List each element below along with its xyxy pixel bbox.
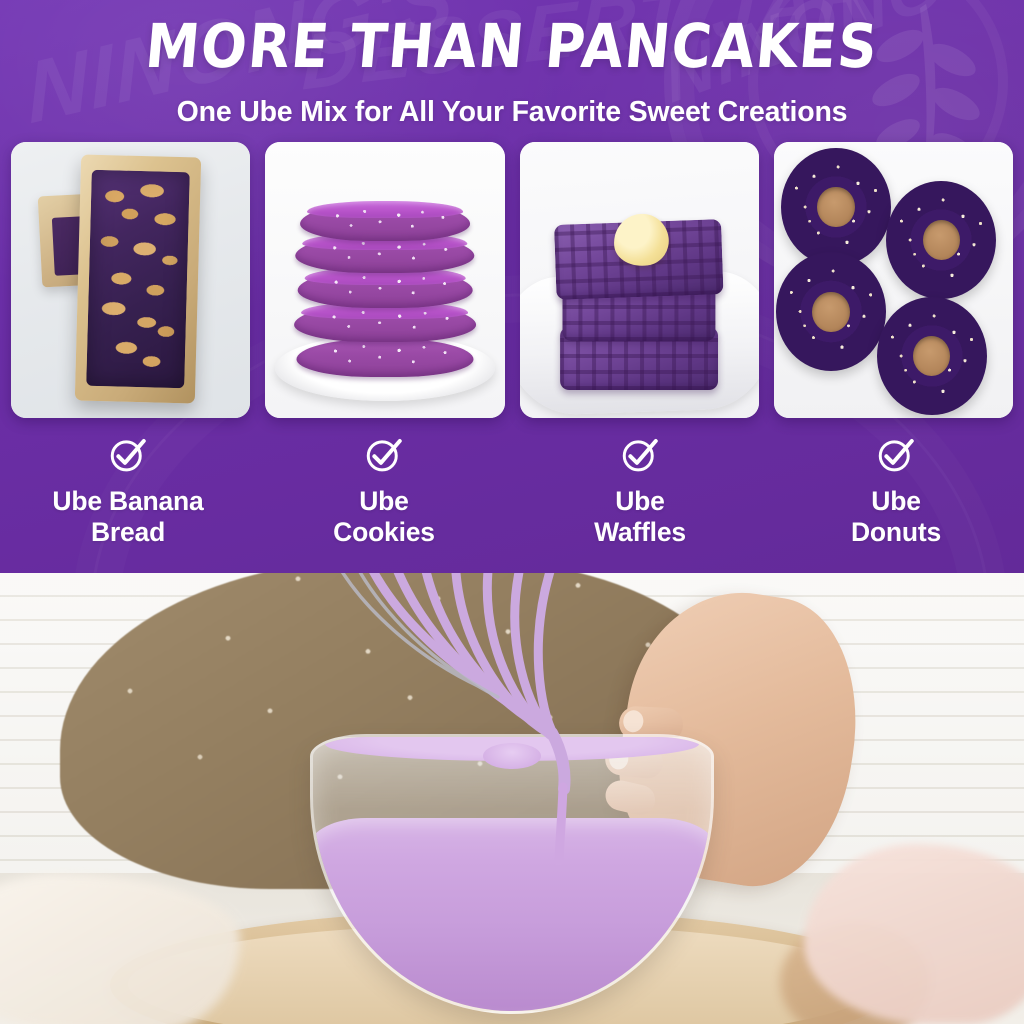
product-photo-ube-donuts[interactable] [774, 142, 1013, 418]
check-circle-icon [107, 434, 149, 476]
banana-bread-photo [11, 142, 250, 418]
feature-label: Ube Cookies [333, 486, 435, 548]
ube-waffles-photo [520, 142, 759, 418]
check-circle-icon [619, 434, 661, 476]
feature-label-row: Ube Banana Bread Ube Cookies Ube Waffles [0, 434, 1024, 566]
feature-ube-waffles: Ube Waffles [512, 434, 768, 566]
ube-donuts-photo [774, 142, 1013, 418]
product-infographic: NINONG'S DESSERT JAR NINONG'S MORE THAN … [0, 0, 1024, 1024]
feature-ube-donuts: Ube Donuts [768, 434, 1024, 566]
check-circle-icon [363, 434, 405, 476]
promo-header-panel: NINONG'S DESSERT JAR NINONG'S MORE THAN … [0, 0, 1024, 573]
product-photo-ube-banana-bread[interactable] [11, 142, 250, 418]
feature-label: Ube Banana Bread [52, 486, 203, 548]
check-circle-icon [875, 434, 917, 476]
feature-label: Ube Waffles [594, 486, 686, 548]
hero-lifestyle-photo [0, 573, 1024, 1024]
feature-label: Ube Donuts [851, 486, 941, 548]
foreground-prop-left [0, 874, 240, 1024]
wire-whisk [330, 573, 660, 825]
page-subtitle: One Ube Mix for All Your Favorite Sweet … [0, 92, 1024, 132]
ube-cookies-photo [265, 142, 504, 418]
feature-ube-cookies: Ube Cookies [256, 434, 512, 566]
page-title: MORE THAN PANCAKES [0, 8, 1024, 86]
product-photo-ube-cookies[interactable] [265, 142, 504, 418]
feature-ube-banana-bread: Ube Banana Bread [0, 434, 256, 566]
product-photo-row [11, 142, 1013, 418]
product-photo-ube-waffles[interactable] [520, 142, 759, 418]
